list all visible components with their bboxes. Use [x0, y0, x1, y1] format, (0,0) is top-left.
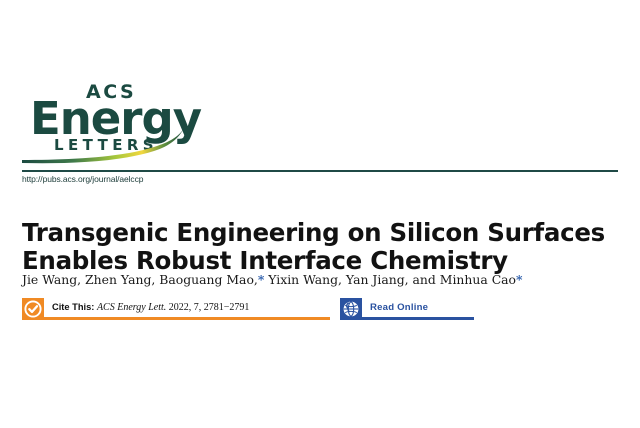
author-segment-2: Yixin Wang, Yan Jiang, and Minhua Cao [264, 272, 516, 287]
cite-this-bar[interactable]: Cite This: ACS Energy Lett. 2022, 7, 278… [22, 298, 330, 320]
globe-icon [340, 298, 362, 320]
cite-citation: 2022, 7, 2781−2791 [166, 302, 249, 313]
cite-this-label: Cite This: [52, 302, 94, 312]
article-action-bars: Cite This: ACS Energy Lett. 2022, 7, 278… [22, 298, 622, 324]
corresponding-author-marker: * [516, 272, 522, 287]
journal-url[interactable]: http://pubs.acs.org/journal/aelccp [22, 174, 143, 184]
author-segment-1: Jie Wang, Zhen Yang, Baoguang Mao, [22, 272, 258, 287]
author-list: Jie Wang, Zhen Yang, Baoguang Mao,* Yixi… [22, 272, 622, 288]
read-online-bar[interactable]: Read Online [340, 298, 474, 320]
cite-journal-abbrev: ACS Energy Lett. [97, 302, 166, 313]
cite-this-text: Cite This: ACS Energy Lett. 2022, 7, 278… [52, 302, 249, 313]
article-header-page: ACS Energy LETTERS http://pubs.acs.org/j… [0, 0, 640, 428]
read-online-label: Read Online [370, 302, 428, 313]
journal-rule [22, 170, 618, 172]
page-title: Transgenic Engineering on Silicon Surfac… [22, 219, 622, 275]
check-circle-icon [22, 298, 44, 320]
acs-energy-letters-logo: ACS Energy LETTERS [22, 78, 252, 164]
title-line-1: Transgenic Engineering on Silicon Surfac… [22, 219, 622, 247]
